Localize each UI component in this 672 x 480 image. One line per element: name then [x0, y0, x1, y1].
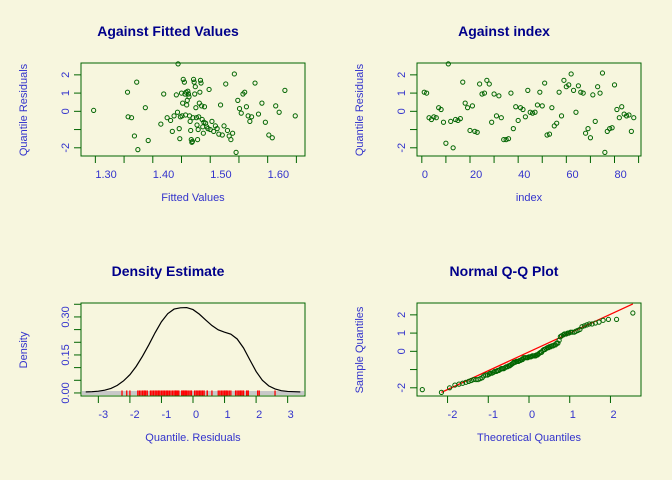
data-point: [174, 93, 178, 97]
density-curve: [86, 308, 301, 392]
data-point: [293, 114, 297, 118]
x-tick-label: 0: [422, 169, 428, 181]
plot-grid: Against Fitted ValuesFitted ValuesQuanti…: [0, 0, 672, 480]
data-point: [514, 105, 518, 109]
data-point: [538, 90, 542, 94]
data-point: [195, 137, 199, 141]
data-point: [552, 124, 556, 128]
data-point: [253, 81, 257, 85]
x-tick-label: -1: [488, 409, 498, 421]
data-point: [571, 88, 575, 92]
data-point: [441, 120, 445, 124]
data-point: [125, 90, 129, 94]
data-point: [232, 72, 236, 76]
data-point: [136, 148, 140, 152]
data-point: [198, 90, 202, 94]
data-point: [591, 93, 595, 97]
data-point: [526, 88, 530, 92]
data-point: [465, 106, 469, 110]
data-point: [586, 127, 590, 131]
against-index-ylabel: Quantile Residuals: [354, 63, 366, 156]
data-point: [201, 131, 205, 135]
data-point: [132, 134, 136, 138]
data-point: [237, 106, 241, 110]
data-point: [231, 131, 235, 135]
against-index-title: Against index: [458, 23, 550, 39]
data-point: [631, 311, 635, 315]
against-index-chart: Against indexindexQuantile Residuals0204…: [336, 0, 672, 240]
data-point: [175, 110, 179, 114]
data-point: [598, 91, 602, 95]
data-point: [192, 80, 196, 84]
data-point: [92, 108, 96, 112]
y-tick-label: 2: [60, 72, 72, 78]
y-tick-label: 0.15: [60, 344, 72, 365]
data-point: [550, 106, 554, 110]
panel-against-fitted-values: Against Fitted ValuesFitted ValuesQuanti…: [0, 0, 336, 240]
data-point: [270, 136, 274, 140]
data-point: [449, 119, 453, 123]
density-estimate-title: Density Estimate: [112, 263, 225, 279]
data-point: [162, 92, 166, 96]
data-point: [569, 72, 573, 76]
x-tick-label: -1: [161, 409, 171, 421]
data-point: [629, 129, 633, 133]
data-point: [260, 101, 264, 105]
data-point: [620, 105, 624, 109]
data-point: [574, 110, 578, 114]
data-point: [283, 88, 287, 92]
data-point: [601, 318, 605, 322]
data-point: [143, 106, 147, 110]
data-point: [596, 85, 600, 89]
data-point: [600, 71, 604, 75]
data-point: [199, 81, 203, 85]
data-point: [239, 111, 243, 115]
data-point: [197, 101, 201, 105]
y-tick-label: 2: [396, 312, 408, 318]
y-tick-label: 0: [60, 108, 72, 114]
y-tick-label: -2: [396, 383, 408, 393]
x-tick-label: 60: [566, 169, 578, 181]
data-point: [470, 104, 474, 108]
scatter-points: [422, 62, 636, 155]
data-point: [176, 62, 180, 66]
panel-normal-qq-plot: Normal Q-Q PlotTheoretical QuantilesSamp…: [336, 240, 672, 480]
x-tick-label: 1.30: [95, 169, 116, 181]
data-point: [195, 123, 199, 127]
data-point: [576, 84, 580, 88]
data-point: [256, 112, 260, 116]
density-estimate-plot-box: [81, 303, 305, 396]
normal-qq-plot-ylabel: Sample Quantiles: [354, 306, 366, 393]
data-point: [193, 85, 197, 89]
y-tick-label: 0: [396, 348, 408, 354]
data-point: [170, 129, 174, 133]
x-tick-label: 2: [610, 409, 616, 421]
data-point: [177, 127, 181, 131]
data-point: [523, 115, 527, 119]
data-point: [535, 103, 539, 107]
data-point: [189, 128, 193, 132]
y-tick-label: 1: [396, 330, 408, 336]
x-tick-label: -3: [98, 409, 108, 421]
x-tick-label: -2: [130, 409, 140, 421]
data-point: [499, 116, 503, 120]
data-point: [172, 114, 176, 118]
data-point: [584, 131, 588, 135]
data-point: [234, 150, 238, 154]
x-tick-label: 1: [570, 409, 576, 421]
data-point: [196, 127, 200, 131]
against-fitted-values-xlabel: Fitted Values: [161, 192, 225, 204]
data-point: [543, 81, 547, 85]
y-tick-label: 0.00: [60, 382, 72, 403]
against-fitted-values-chart: Against Fitted ValuesFitted ValuesQuanti…: [0, 0, 336, 240]
x-tick-label: 80: [615, 169, 627, 181]
data-point: [193, 92, 197, 96]
data-point: [146, 138, 150, 142]
against-fitted-values-ylabel: Quantile Residuals: [18, 63, 30, 156]
density-estimate-xlabel: Quantile. Residuals: [145, 432, 241, 444]
data-point: [194, 106, 198, 110]
data-point: [263, 120, 267, 124]
data-point: [461, 80, 465, 84]
data-point: [478, 82, 482, 86]
data-point: [632, 116, 636, 120]
data-point: [224, 82, 228, 86]
data-point: [487, 82, 491, 86]
density-estimate-chart: Density EstimateQuantile. ResidualsDensi…: [0, 240, 336, 480]
data-point: [169, 118, 173, 122]
y-tick-label: 1: [60, 90, 72, 96]
data-point: [509, 91, 513, 95]
x-tick-label: 1.60: [268, 169, 289, 181]
data-point: [562, 78, 566, 82]
x-tick-label: 2: [256, 409, 262, 421]
normal-qq-plot-xlabel: Theoretical Quantiles: [477, 432, 581, 444]
x-tick-label: 1.50: [210, 169, 231, 181]
data-point: [277, 110, 281, 114]
data-point: [603, 150, 607, 154]
y-tick-label: -2: [60, 143, 72, 153]
data-point: [178, 137, 182, 141]
data-point: [511, 127, 515, 131]
data-point: [593, 119, 597, 123]
data-point: [615, 107, 619, 111]
data-point: [555, 121, 559, 125]
scatter-points: [92, 62, 298, 155]
data-point: [159, 122, 163, 126]
x-tick-label: 0: [193, 409, 199, 421]
data-point: [225, 128, 229, 132]
data-point: [606, 317, 610, 321]
x-tick-label: -2: [448, 409, 458, 421]
against-index-xlabel: index: [516, 192, 543, 204]
data-point: [494, 114, 498, 118]
data-point: [420, 388, 424, 392]
y-tick-label: 2: [396, 72, 408, 78]
x-tick-label: 0: [529, 409, 535, 421]
panel-density-estimate: Density EstimateQuantile. ResidualsDensi…: [0, 240, 336, 480]
x-tick-label: 1.40: [153, 169, 174, 181]
against-index-plot-box: [417, 63, 641, 156]
data-point: [207, 87, 211, 91]
data-point: [451, 146, 455, 150]
data-point: [229, 137, 233, 141]
data-point: [210, 119, 214, 123]
y-tick-label: 1: [396, 90, 408, 96]
data-point: [185, 103, 189, 107]
data-point: [244, 105, 248, 109]
data-point: [468, 128, 472, 132]
data-point: [492, 92, 496, 96]
data-point: [516, 118, 520, 122]
data-point: [248, 119, 252, 123]
y-tick-label: 0.30: [60, 306, 72, 327]
data-point: [274, 104, 278, 108]
normal-qq-plot-title: Normal Q-Q Plot: [450, 263, 559, 279]
data-point: [497, 94, 501, 98]
data-point: [187, 95, 191, 99]
normal-qq-plot-chart: Normal Q-Q PlotTheoretical QuantilesSamp…: [336, 240, 672, 480]
data-point: [446, 62, 450, 66]
density-estimate-ylabel: Density: [18, 331, 30, 368]
x-tick-label: 1: [225, 409, 231, 421]
x-tick-label: 3: [288, 409, 294, 421]
data-point: [236, 98, 240, 102]
against-fitted-values-title: Against Fitted Values: [97, 23, 239, 39]
data-point: [222, 124, 226, 128]
data-point: [614, 317, 618, 321]
x-tick-label: 20: [470, 169, 482, 181]
y-tick-label: 0: [396, 108, 408, 114]
data-point: [444, 141, 448, 145]
data-point: [218, 103, 222, 107]
data-point: [612, 83, 616, 87]
data-point: [490, 120, 494, 124]
data-point: [605, 129, 609, 133]
y-tick-label: -2: [396, 143, 408, 153]
data-point: [559, 114, 563, 118]
x-tick-label: 40: [518, 169, 530, 181]
data-point: [135, 80, 139, 84]
data-point: [557, 90, 561, 94]
data-point: [588, 136, 592, 140]
panel-against-index: Against indexindexQuantile Residuals0204…: [336, 0, 672, 240]
normal-qq-plot-plot-box: [417, 303, 641, 396]
data-point: [463, 101, 467, 105]
data-point: [617, 116, 621, 120]
data-point: [540, 104, 544, 108]
